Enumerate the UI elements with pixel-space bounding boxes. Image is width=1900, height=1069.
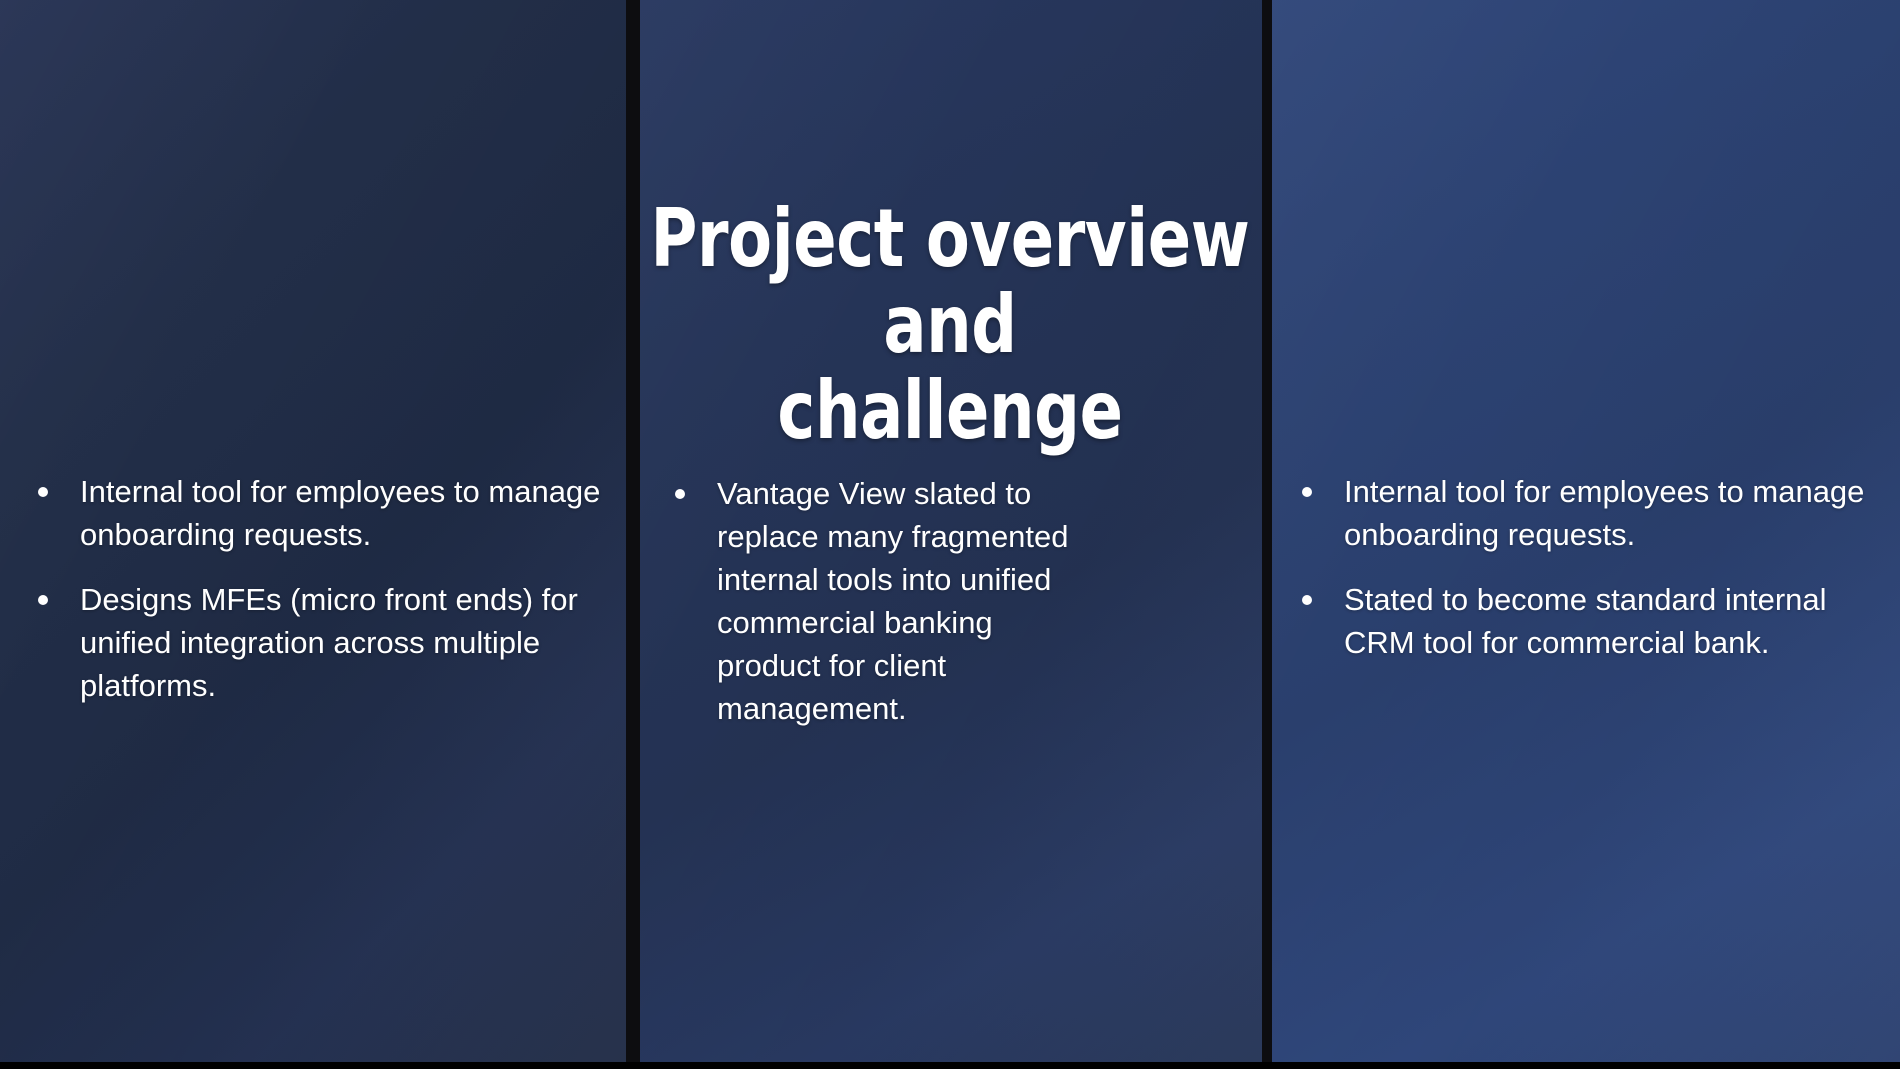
bottom-bar: [0, 1062, 1900, 1069]
panel-divider-left: [626, 0, 640, 1062]
bullet-dot-icon: [675, 489, 685, 499]
slide-canvas: Project overview and challenge Internal …: [0, 0, 1900, 1069]
list-item-label: Vantage View slated to replace many frag…: [717, 472, 1095, 730]
bullet-list-right: Internal tool for employees to manage on…: [1292, 470, 1872, 664]
bullet-list-center: Vantage View slated to replace many frag…: [665, 472, 1095, 730]
list-item-label: Internal tool for employees to manage on…: [80, 470, 608, 556]
bullet-dot-icon: [38, 595, 48, 605]
list-item: Designs MFEs (micro front ends) for unif…: [28, 578, 608, 707]
bullet-dot-icon: [1302, 487, 1312, 497]
page-title: Project overview and challenge: [590, 196, 1310, 454]
bullet-list-left: Internal tool for employees to manage on…: [28, 470, 608, 707]
list-item-label: Stated to become standard internal CRM t…: [1344, 578, 1872, 664]
list-item: Stated to become standard internal CRM t…: [1292, 578, 1872, 664]
list-item: Internal tool for employees to manage on…: [1292, 470, 1872, 556]
list-item: Vantage View slated to replace many frag…: [665, 472, 1095, 730]
list-item-label: Designs MFEs (micro front ends) for unif…: [80, 578, 608, 707]
list-item: Internal tool for employees to manage on…: [28, 470, 608, 556]
bullet-dot-icon: [1302, 595, 1312, 605]
panel-divider-right: [1262, 0, 1272, 1062]
bullet-dot-icon: [38, 487, 48, 497]
list-item-label: Internal tool for employees to manage on…: [1344, 470, 1872, 556]
